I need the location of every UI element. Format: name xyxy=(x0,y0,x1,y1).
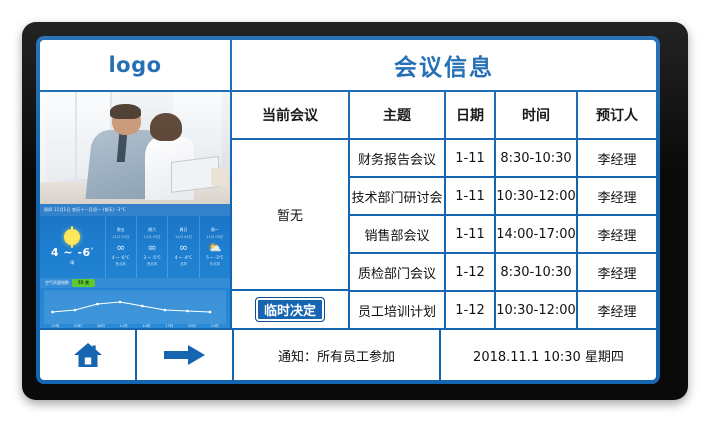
office-photo xyxy=(40,92,230,204)
cell-time: 8:30-10:30 xyxy=(496,254,578,290)
weather-temp-unit: ° xyxy=(91,247,94,253)
logo-cell[interactable]: logo xyxy=(40,40,232,90)
home-button[interactable] xyxy=(40,330,137,380)
cell-time: 10:30-12:00 xyxy=(496,178,578,214)
cell-time: 14:00-17:00 xyxy=(496,216,578,252)
photo-woman-hair xyxy=(150,113,182,141)
weather-date-text: 周四 11月1日 农历十一月初一 (前天) -3°C xyxy=(44,207,126,213)
forecast-day-temp: 5 ~ -3°C xyxy=(206,255,223,260)
air-quality-row: 空气质量指数 55 良 xyxy=(40,278,230,288)
cell-time: 10:30-12:00 xyxy=(496,292,578,328)
page-title: 会议信息 xyxy=(394,48,494,82)
photo-man-hair xyxy=(110,104,140,119)
chart-hour-labels: 02时 05时 08时 11时 14时 17时 20时 23时 xyxy=(40,324,230,328)
monitor-bezel: logo 会议信息 xyxy=(22,22,688,400)
logo-text: logo xyxy=(108,53,161,77)
cell-topic: 员工培训计划 xyxy=(350,292,446,328)
table-body: 暂无 临时决定 财务报告会议 1-11 8:30-10:30 李经理 xyxy=(232,140,656,328)
forecast-day-temp: 4 ~ -6°C xyxy=(112,255,129,260)
forecast-weather-icon: ∞ xyxy=(148,242,157,253)
hour-label: 02时 xyxy=(51,324,59,328)
forecast-weather-icon: ∞ xyxy=(179,242,188,253)
hour-label: 17时 xyxy=(165,324,173,328)
datetime-text: 2018.11.1 10:30 星期四 xyxy=(441,330,656,380)
temp-decision-button[interactable]: 临时决定 xyxy=(255,297,325,322)
forecast-day-temp: 3 ~ -5°C xyxy=(144,255,161,260)
meeting-table: 当前会议 主题 日期 时间 预订人 暂无 临时决定 财 xyxy=(232,92,656,328)
cell-time: 8:30-10:30 xyxy=(496,140,578,176)
photo-cup xyxy=(211,168,228,186)
current-meeting-cell: 暂无 临时决定 xyxy=(232,140,350,328)
main-content: 周四 11月1日 农历十一月初一 (前天) -3°C 4 ~ -6° 晴 xyxy=(40,92,656,330)
weather-forecast: 周五 11/2 02日 ∞ 4 ~ -6°C 西北风 周六 11/3 03日 ∞… xyxy=(105,216,230,278)
left-panel: 周四 11月1日 农历十一月初一 (前天) -3°C 4 ~ -6° 晴 xyxy=(40,92,232,328)
meeting-rows: 财务报告会议 1-11 8:30-10:30 李经理 技术部门研讨会 1-11 … xyxy=(350,140,656,328)
cell-topic: 质检部门会议 xyxy=(350,254,446,290)
forecast-day: 周一 11/5 05日 ⛅ 5 ~ -3°C 东北风 xyxy=(199,216,230,278)
temp-decision-cell: 临时决定 xyxy=(232,291,348,328)
forecast-day-name: 周五 xyxy=(117,227,125,233)
weather-condition: 晴 xyxy=(70,260,74,266)
next-button[interactable] xyxy=(137,330,234,380)
cell-person: 李经理 xyxy=(578,216,656,252)
hour-label: 11时 xyxy=(120,324,128,328)
forecast-day-wind: 北风 xyxy=(180,262,187,267)
forecast-weather-icon: ∞ xyxy=(116,242,125,253)
forecast-day: 周六 11/3 03日 ∞ 3 ~ -5°C 西北风 xyxy=(136,216,167,278)
weather-datestrip: 周四 11月1日 农历十一月初一 (前天) -3°C xyxy=(40,204,230,216)
table-header-row: 当前会议 主题 日期 时间 预订人 xyxy=(232,92,656,140)
table-row[interactable]: 销售部会议 1-11 14:00-17:00 李经理 xyxy=(350,216,656,254)
table-row[interactable]: 财务报告会议 1-11 8:30-10:30 李经理 xyxy=(350,140,656,178)
forecast-day: 周五 11/2 02日 ∞ 4 ~ -6°C 西北风 xyxy=(105,216,136,278)
air-quality-badge: 55 良 xyxy=(72,279,95,287)
forecast-day-name: 周六 xyxy=(148,227,156,233)
cell-date: 1-11 xyxy=(446,140,496,176)
cell-person: 李经理 xyxy=(578,178,656,214)
temperature-trend-chart xyxy=(44,290,226,324)
cell-date: 1-11 xyxy=(446,178,496,214)
cell-date: 1-12 xyxy=(446,292,496,328)
hour-label: 05时 xyxy=(74,324,82,328)
table-row[interactable]: 质检部门会议 1-12 8:30-10:30 李经理 xyxy=(350,254,656,292)
cell-date: 1-12 xyxy=(446,254,496,290)
cell-topic: 销售部会议 xyxy=(350,216,446,252)
cell-person: 李经理 xyxy=(578,254,656,290)
arrow-right-icon xyxy=(164,344,206,366)
forecast-day-name: 周一 xyxy=(211,227,219,233)
cell-topic: 财务报告会议 xyxy=(350,140,446,176)
table-row[interactable]: 技术部门研讨会 1-11 10:30-12:00 李经理 xyxy=(350,178,656,216)
cell-date: 1-11 xyxy=(446,216,496,252)
cell-topic: 技术部门研讨会 xyxy=(350,178,446,214)
cell-person: 李经理 xyxy=(578,140,656,176)
forecast-day-date: 11/5 05日 xyxy=(206,235,223,240)
hour-label: 14时 xyxy=(142,324,150,328)
table-row[interactable]: 员工培训计划 1-12 10:30-12:00 李经理 xyxy=(350,292,656,328)
hour-label: 23时 xyxy=(211,324,219,328)
forecast-day-wind: 西北风 xyxy=(116,262,127,267)
forecast-day-wind: 西北风 xyxy=(147,262,158,267)
column-header-current-meeting: 当前会议 xyxy=(232,92,350,138)
weather-today: 4 ~ -6° 晴 xyxy=(40,216,105,278)
forecast-day-wind: 东北风 xyxy=(210,262,221,267)
title-cell: 会议信息 xyxy=(232,40,656,90)
header: logo 会议信息 xyxy=(40,40,656,92)
weather-main: 4 ~ -6° 晴 周五 11/2 02日 ∞ 4 ~ -6°C 西北风 xyxy=(40,216,230,278)
forecast-day-date: 11/2 02日 xyxy=(112,235,129,240)
current-meeting-value: 暂无 xyxy=(232,140,348,291)
meeting-info-app: logo 会议信息 xyxy=(36,36,660,384)
column-header-time: 时间 xyxy=(496,92,578,138)
hour-label: 08时 xyxy=(97,324,105,328)
hour-label: 20时 xyxy=(188,324,196,328)
column-header-person: 预订人 xyxy=(578,92,656,138)
air-quality-label: 空气质量指数 xyxy=(45,280,69,286)
forecast-day: 周日 11/4 04日 ∞ 4 ~ -4°C 北风 xyxy=(167,216,198,278)
home-icon xyxy=(73,341,103,369)
column-header-date: 日期 xyxy=(446,92,496,138)
forecast-day-date: 11/3 03日 xyxy=(144,235,161,240)
column-header-topic: 主题 xyxy=(350,92,446,138)
sun-icon xyxy=(64,229,80,245)
forecast-day-temp: 4 ~ -4°C xyxy=(175,255,192,260)
notice-text: 通知：所有员工参加 xyxy=(234,330,441,380)
forecast-day-date: 11/4 04日 xyxy=(175,235,192,240)
bottom-bar: 通知：所有员工参加 2018.11.1 10:30 星期四 xyxy=(40,330,656,380)
forecast-weather-icon: ⛅ xyxy=(208,242,222,253)
weather-widget[interactable]: 周四 11月1日 农历十一月初一 (前天) -3°C 4 ~ -6° 晴 xyxy=(40,204,230,328)
forecast-day-name: 周日 xyxy=(179,227,187,233)
cell-person: 李经理 xyxy=(578,292,656,328)
